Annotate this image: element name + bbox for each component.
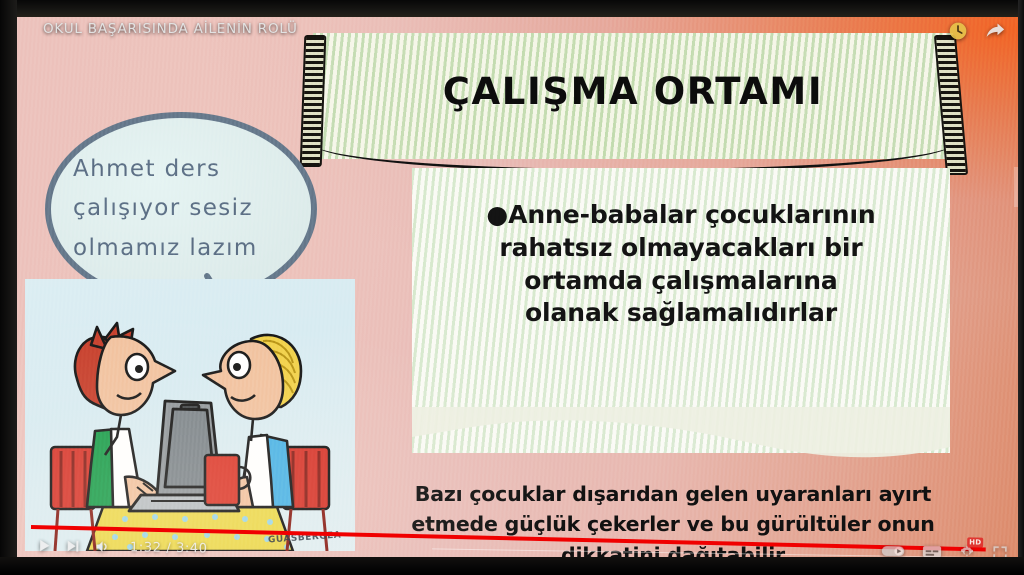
monitor-bezel-left: [0, 0, 17, 575]
subtitles-icon[interactable]: [922, 545, 942, 557]
fullscreen-icon[interactable]: [992, 545, 1008, 557]
watch-later-clock-icon[interactable]: [948, 21, 968, 41]
video-top-right-actions: [948, 21, 1006, 41]
share-arrow-icon[interactable]: [984, 21, 1006, 41]
bullet-line-2: rahatsız olmayacakları bir: [417, 232, 945, 265]
cartoon-illustration: GUASBERGEA: [25, 279, 355, 551]
slide-title: ÇALIŞMA ORTAMI: [313, 33, 953, 149]
video-time-display: 1:32 / 3:40: [130, 540, 208, 556]
speech-bubble: Ahmet ders çalışıyor sesiz olmamız lazım: [45, 112, 317, 306]
lower-line-1: Bazı çocuklar dışarıdan gelen uyaranları…: [373, 479, 973, 509]
monitor-bezel-right: [1018, 0, 1024, 575]
volume-icon[interactable]: [94, 539, 111, 555]
slide-title-banner: ÇALIŞMA ORTAMI: [300, 33, 966, 168]
bullet-line-1: ●Anne-babalar çocuklarının: [417, 199, 945, 232]
monitor-bezel-top: [0, 0, 1024, 17]
photographed-monitor: ÇALIŞMA ORTAMI Ahmet ders çalışıyor sesi…: [0, 0, 1024, 575]
settings-with-quality-badge[interactable]: HD: [959, 544, 975, 557]
video-controls-left: 1:32 / 3:40: [37, 538, 208, 557]
bullet-line-3: ortamda çalışmalarına: [417, 265, 945, 298]
speech-bubble-line-2: çalışıyor sesiz: [73, 189, 289, 229]
video-controls-right: HD: [881, 543, 1008, 557]
monitor-screen: ÇALIŞMA ORTAMI Ahmet ders çalışıyor sesi…: [17, 17, 1018, 557]
slide-content-wave-edge: [412, 407, 950, 469]
speech-bubble-line-1: Ahmet ders: [73, 150, 289, 190]
bullet-line-4: olanak sağlamalıdırlar: [417, 297, 945, 330]
autoplay-toggle-icon[interactable]: [881, 544, 905, 557]
video-title: OKUL BAŞARISINDA AİLENİN ROLÜ: [43, 21, 298, 37]
slide-bullet-block: ●Anne-babalar çocuklarının rahatsız olma…: [417, 199, 945, 330]
speech-bubble-line-3: olmamız lazım: [73, 229, 289, 269]
cartoon-svg: [25, 279, 355, 551]
quality-hd-badge: HD: [967, 537, 983, 547]
wave-svg: [412, 407, 950, 469]
play-icon[interactable]: [37, 538, 52, 554]
monitor-bezel-bottom: [0, 557, 1024, 575]
next-video-icon[interactable]: [65, 538, 81, 554]
